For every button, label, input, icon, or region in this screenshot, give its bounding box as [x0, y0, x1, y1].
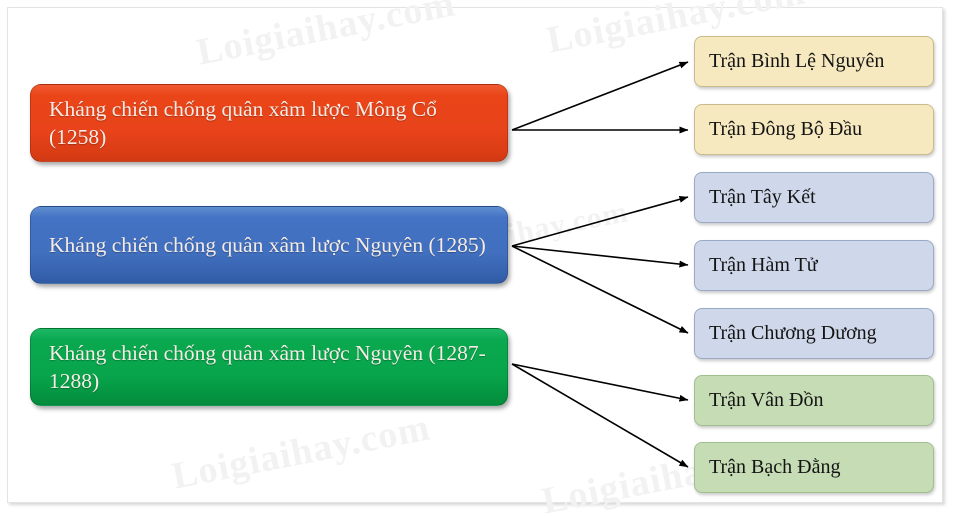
category-box-nguyen-1285[interactable]: Kháng chiến chống quân xâm lược Nguyên (… — [30, 206, 508, 284]
event-label: Trận Đông Bộ Đầu — [709, 118, 862, 141]
diagram-canvas: Loigiaihay.com Loigiaihay.com Loigiaihay… — [0, 0, 962, 518]
event-label: Trận Tây Kết — [709, 186, 816, 209]
event-label: Trận Hàm Tử — [709, 254, 818, 277]
event-box-binh-le-nguyen[interactable]: Trận Bình Lệ Nguyên — [694, 36, 934, 87]
event-label: Trận Bạch Đằng — [709, 456, 840, 479]
event-label: Trận Chương Dương — [709, 322, 877, 345]
category-label: Kháng chiến chống quân xâm lược Nguyên (… — [49, 231, 491, 259]
category-box-nguyen-1287-1288[interactable]: Kháng chiến chống quân xâm lược Nguyên (… — [30, 328, 508, 406]
event-box-ham-tu[interactable]: Trận Hàm Tử — [694, 240, 934, 291]
category-box-mong-co-1258[interactable]: Kháng chiến chống quân xâm lược Mông Cổ … — [30, 84, 508, 162]
event-box-van-don[interactable]: Trận Vân Đồn — [694, 375, 934, 426]
event-box-chuong-duong[interactable]: Trận Chương Dương — [694, 308, 934, 359]
event-label: Trận Vân Đồn — [709, 389, 823, 412]
event-box-dong-bo-dau[interactable]: Trận Đông Bộ Đầu — [694, 104, 934, 155]
category-label: Kháng chiến chống quân xâm lược Mông Cổ … — [49, 95, 491, 152]
event-box-tay-ket[interactable]: Trận Tây Kết — [694, 172, 934, 223]
event-box-bach-dang[interactable]: Trận Bạch Đằng — [694, 442, 934, 493]
event-label: Trận Bình Lệ Nguyên — [709, 50, 884, 73]
category-label: Kháng chiến chống quân xâm lược Nguyên (… — [49, 339, 491, 396]
